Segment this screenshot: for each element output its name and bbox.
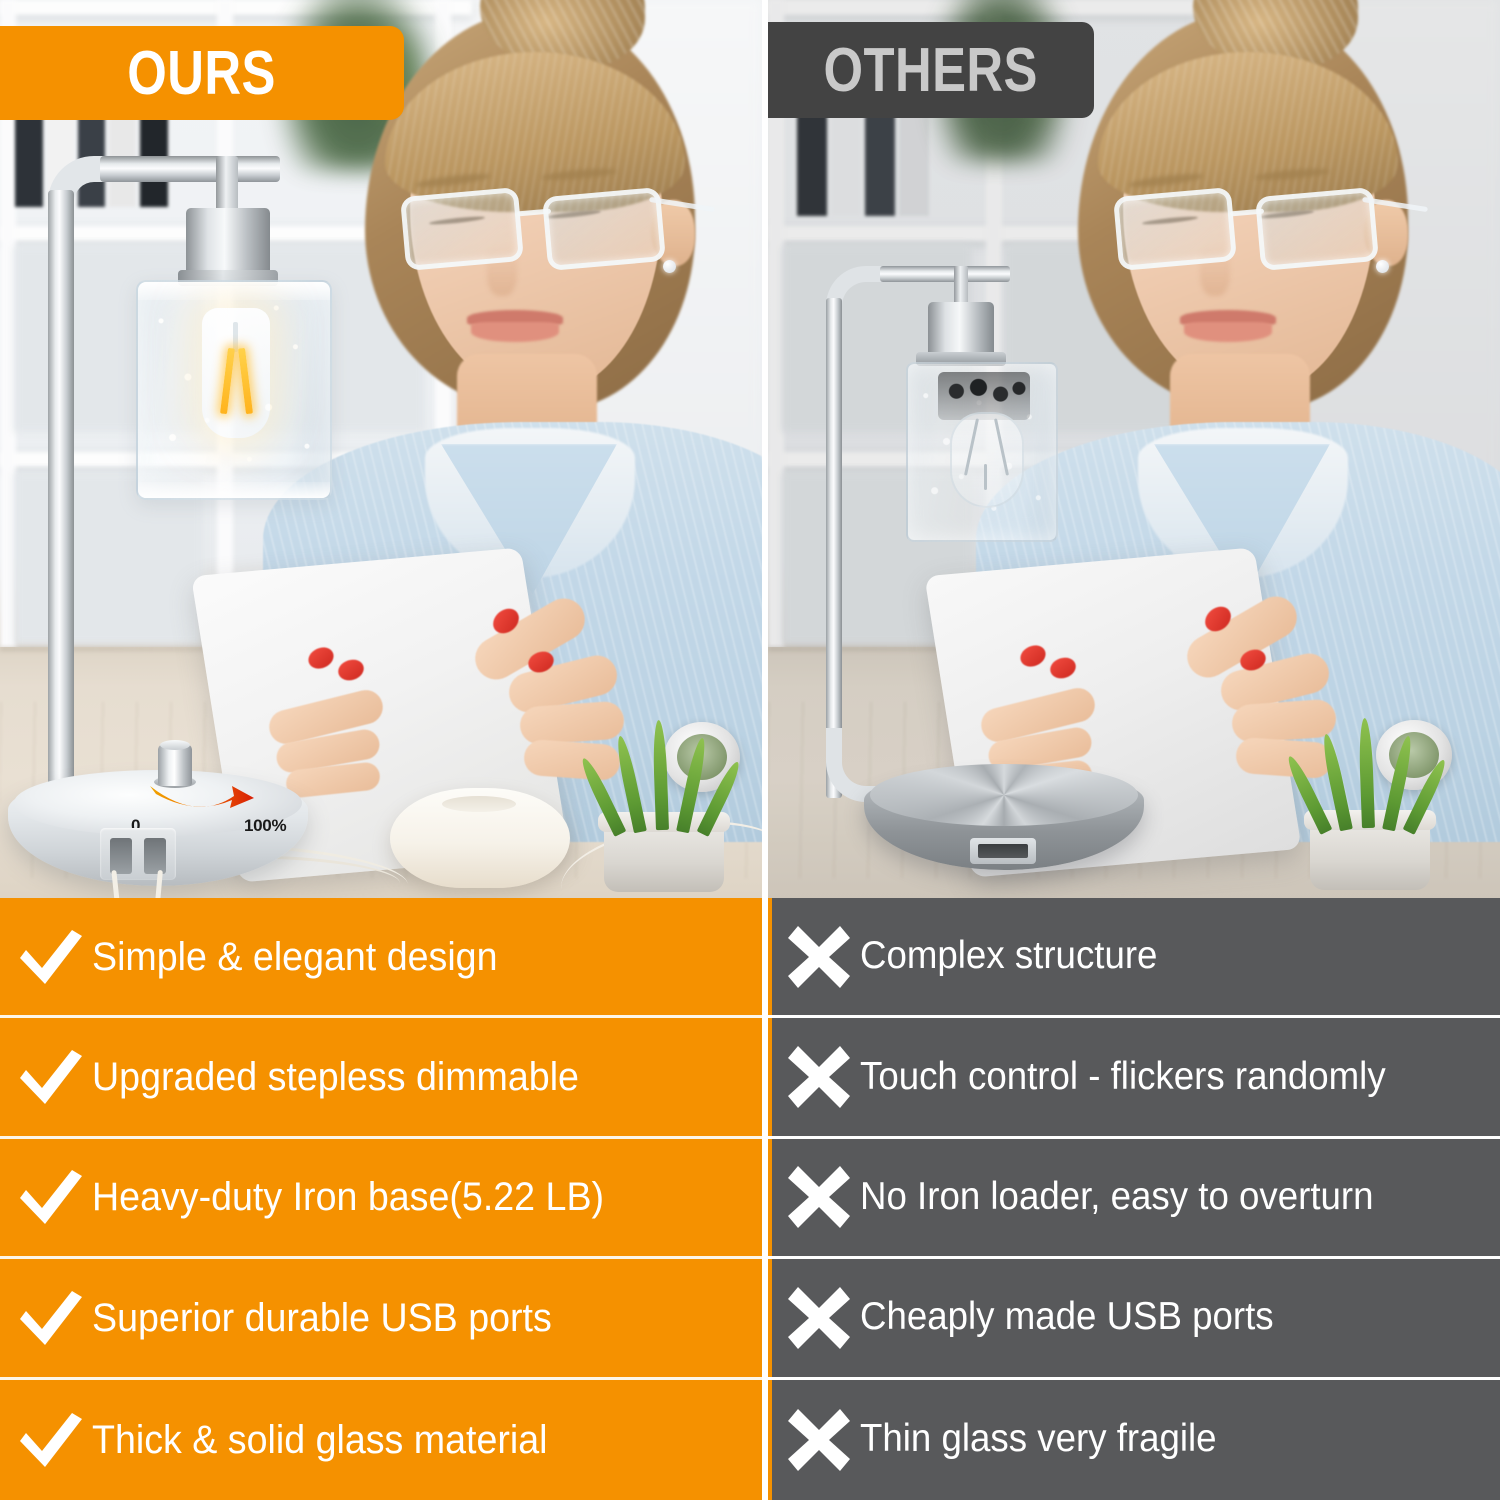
photo-panel-others xyxy=(768,0,1500,898)
feature-label: Upgraded stepless dimmable xyxy=(92,1056,579,1098)
comparison-column-others: Complex structure Touch control - flicke… xyxy=(768,898,1500,1500)
lamp-post-others xyxy=(826,298,842,798)
feature-label: Superior durable USB ports xyxy=(92,1297,552,1339)
table-row: Superior durable USB ports xyxy=(0,1259,762,1379)
usb-port-b[interactable] xyxy=(144,838,166,874)
table-row: Thick & solid glass material xyxy=(0,1380,762,1500)
accent-strip xyxy=(768,1018,772,1135)
photo-panel-ours: 0 100% OURS xyxy=(0,0,762,898)
dimmer-arc-icon xyxy=(146,782,258,816)
usb-port-others[interactable] xyxy=(978,844,1028,858)
badge-others: OTHERS xyxy=(768,22,1094,118)
comparison-column-ours: Simple & elegant design Upgraded steples… xyxy=(0,898,762,1500)
glass-shade-others xyxy=(906,362,1058,542)
check-icon xyxy=(14,1281,88,1355)
light-bulb-others xyxy=(950,412,1024,508)
dimmer-max-label: 100% xyxy=(244,816,286,836)
table-row: No Iron loader, easy to overturn xyxy=(768,1139,1500,1259)
badge-others-label: OTHERS xyxy=(824,35,1038,106)
badge-ours: OURS xyxy=(0,26,404,120)
glass-shade-ours xyxy=(136,280,332,500)
x-icon xyxy=(782,1403,856,1477)
table-row: Simple & elegant design xyxy=(0,898,762,1018)
lamp-others xyxy=(808,258,1138,878)
potted-plant-ours xyxy=(604,820,724,892)
wristwatch-others xyxy=(1376,720,1452,790)
table-row: Thin glass very fragile xyxy=(768,1380,1500,1500)
eyeglasses xyxy=(1110,188,1390,274)
feature-label: Touch control - flickers randomly xyxy=(860,1057,1386,1098)
table-row: Cheaply made USB ports xyxy=(768,1259,1500,1379)
lips xyxy=(1180,310,1276,344)
accent-strip xyxy=(768,1380,772,1500)
table-row: Touch control - flickers randomly xyxy=(768,1018,1500,1138)
photo-region: 0 100% OURS xyxy=(0,0,1500,898)
feature-label: Thick & solid glass material xyxy=(92,1419,548,1461)
table-row: Upgraded stepless dimmable xyxy=(0,1018,762,1138)
check-icon xyxy=(14,1040,88,1114)
potted-plant-others xyxy=(1310,818,1430,890)
comparison-table: Simple & elegant design Upgraded steples… xyxy=(0,898,1500,1500)
accent-strip xyxy=(768,1139,772,1256)
check-icon xyxy=(14,920,88,994)
x-icon xyxy=(782,1281,856,1355)
feature-label: Cheaply made USB ports xyxy=(860,1297,1274,1338)
usb-port-a[interactable] xyxy=(110,838,132,874)
badge-ours-label: OURS xyxy=(128,38,277,109)
feature-label: No Iron loader, easy to overturn xyxy=(860,1177,1374,1218)
check-icon xyxy=(14,1160,88,1234)
humidifier xyxy=(390,788,570,888)
table-row: Complex structure xyxy=(768,898,1500,1018)
feature-label: Heavy-duty Iron base(5.22 LB) xyxy=(92,1176,604,1218)
feature-label: Simple & elegant design xyxy=(92,936,498,978)
accent-strip xyxy=(768,1259,772,1376)
accent-strip xyxy=(768,898,772,1015)
x-icon xyxy=(782,1160,856,1234)
x-icon xyxy=(782,1040,856,1114)
feature-label: Complex structure xyxy=(860,936,1157,977)
eyeglasses xyxy=(397,188,677,274)
dimmer-knob[interactable] xyxy=(158,744,192,786)
lips xyxy=(467,310,563,344)
lamp-socket-others xyxy=(928,302,994,356)
table-row: Heavy-duty Iron base(5.22 LB) xyxy=(0,1139,762,1259)
comparison-infographic: 0 100% OURS xyxy=(0,0,1500,1500)
check-icon xyxy=(14,1403,88,1477)
lamp-post-ours xyxy=(48,190,74,830)
lamp-ours: 0 100% xyxy=(8,152,368,894)
feature-label: Thin glass very fragile xyxy=(860,1419,1217,1460)
x-icon xyxy=(782,920,856,994)
